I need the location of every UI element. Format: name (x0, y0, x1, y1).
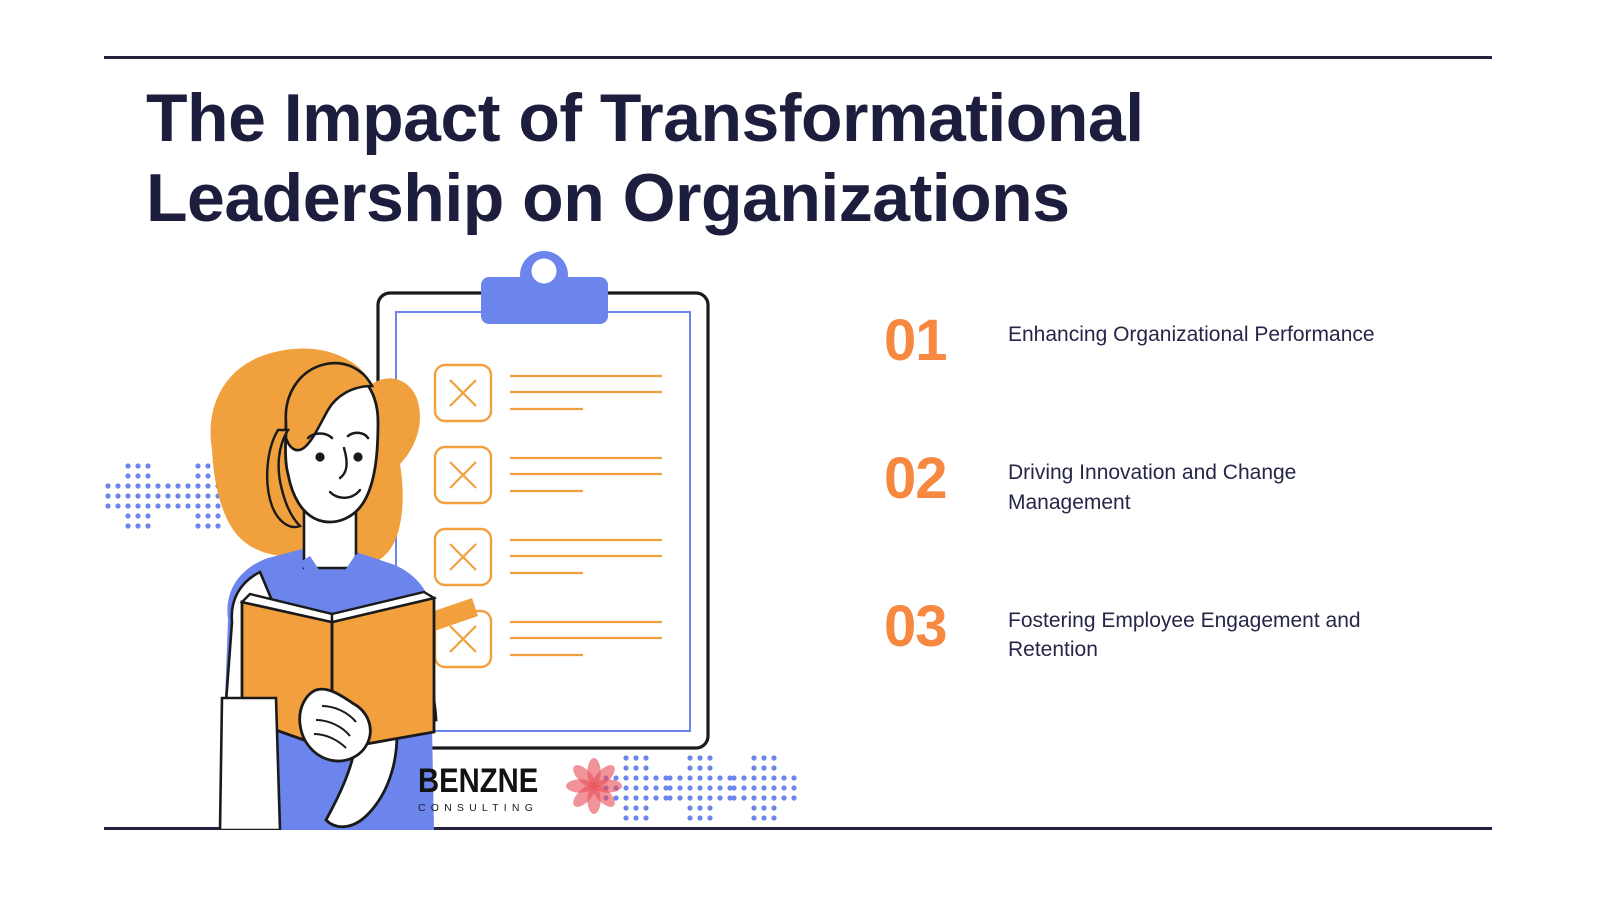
list-item: 03 Fostering Employee Engagement and Ret… (884, 598, 1444, 666)
list-item-number: 02 (884, 450, 1008, 508)
list-item-number: 03 (884, 598, 1008, 656)
list-item: 02 Driving Innovation and Change Managem… (884, 450, 1444, 518)
slide-canvas: The Impact of Transformational Leadershi… (0, 0, 1600, 900)
divider-top (104, 56, 1492, 59)
dot-cluster-bottom-3 (731, 755, 796, 820)
flower-icon (566, 758, 622, 819)
dot-cluster-left-1 (105, 463, 170, 528)
list-item-label: Enhancing Organizational Performance (1008, 312, 1375, 350)
numbered-list: 01 Enhancing Organizational Performance … (884, 312, 1444, 665)
list-item-label: Driving Innovation and Change Management (1008, 450, 1408, 518)
list-item: 01 Enhancing Organizational Performance (884, 312, 1444, 370)
dot-cluster-bottom-2 (667, 755, 732, 820)
brand-logo: BENZNE CONSULTING (418, 758, 622, 819)
illustration (100, 250, 820, 830)
logo-text-block: BENZNE CONSULTING (418, 764, 558, 814)
brand-name: BENZNE (418, 764, 538, 798)
brand-tagline: CONSULTING (418, 802, 558, 814)
list-item-number: 01 (884, 312, 1008, 370)
page-title: The Impact of Transformational Leadershi… (146, 78, 1436, 238)
list-item-label: Fostering Employee Engagement and Retent… (1008, 598, 1408, 666)
